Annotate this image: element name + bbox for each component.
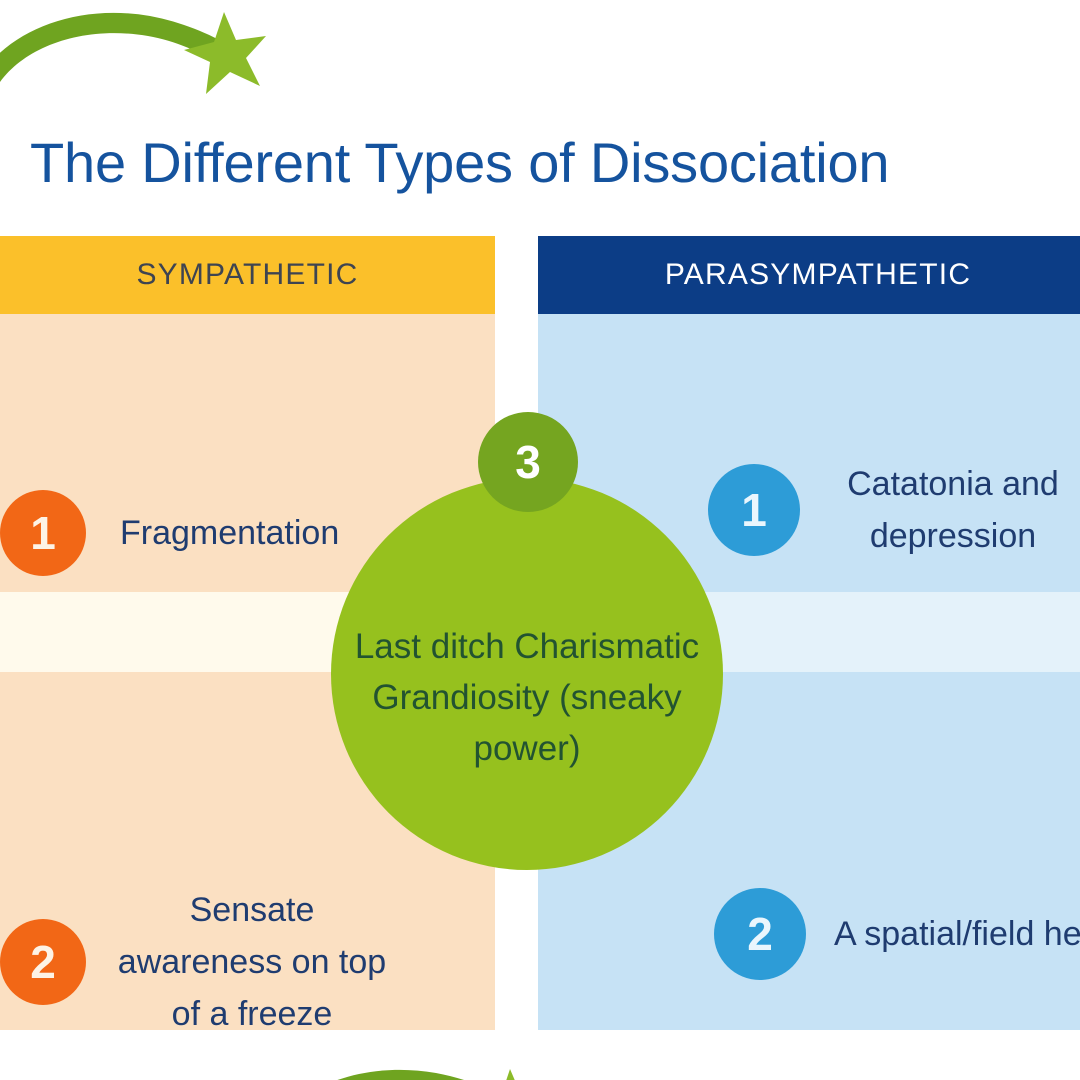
item-label: Sensate awareness on top of a freeze [116,884,388,1040]
page-title: The Different Types of Dissociation [30,126,1050,202]
center-bubble[interactable]: Last ditch Charismatic Grandiosity (snea… [331,478,723,870]
item-label: Fragmentation [120,507,339,559]
item-label: Catatonia and depression [828,458,1078,562]
list-item[interactable]: 1 Catatonia and depression [708,458,1078,562]
column-header-sympathetic: SYMPATHETIC [0,236,495,314]
item-number-badge: 2 [0,919,86,1005]
item-number-badge: 1 [0,490,86,576]
column-header-parasympathetic: PARASYMPATHETIC [538,236,1080,314]
shooting-star-swoosh-bottom-icon [243,1045,573,1080]
center-number-badge: 3 [478,412,578,512]
item-label: A spatial/field heaviness [834,908,1080,960]
infographic-canvas: The Different Types of Dissociation SYMP… [0,0,1080,1080]
shooting-star-swoosh-top-icon [0,0,282,118]
list-item[interactable]: 1 Fragmentation [0,490,339,576]
item-number-badge: 1 [708,464,800,556]
list-item[interactable]: 2 A spatial/field heaviness [714,888,1080,980]
center-bubble-label: Last ditch Charismatic Grandiosity (snea… [331,575,723,774]
item-number-badge: 2 [714,888,806,980]
list-item[interactable]: 2 Sensate awareness on top of a freeze [0,884,388,1040]
